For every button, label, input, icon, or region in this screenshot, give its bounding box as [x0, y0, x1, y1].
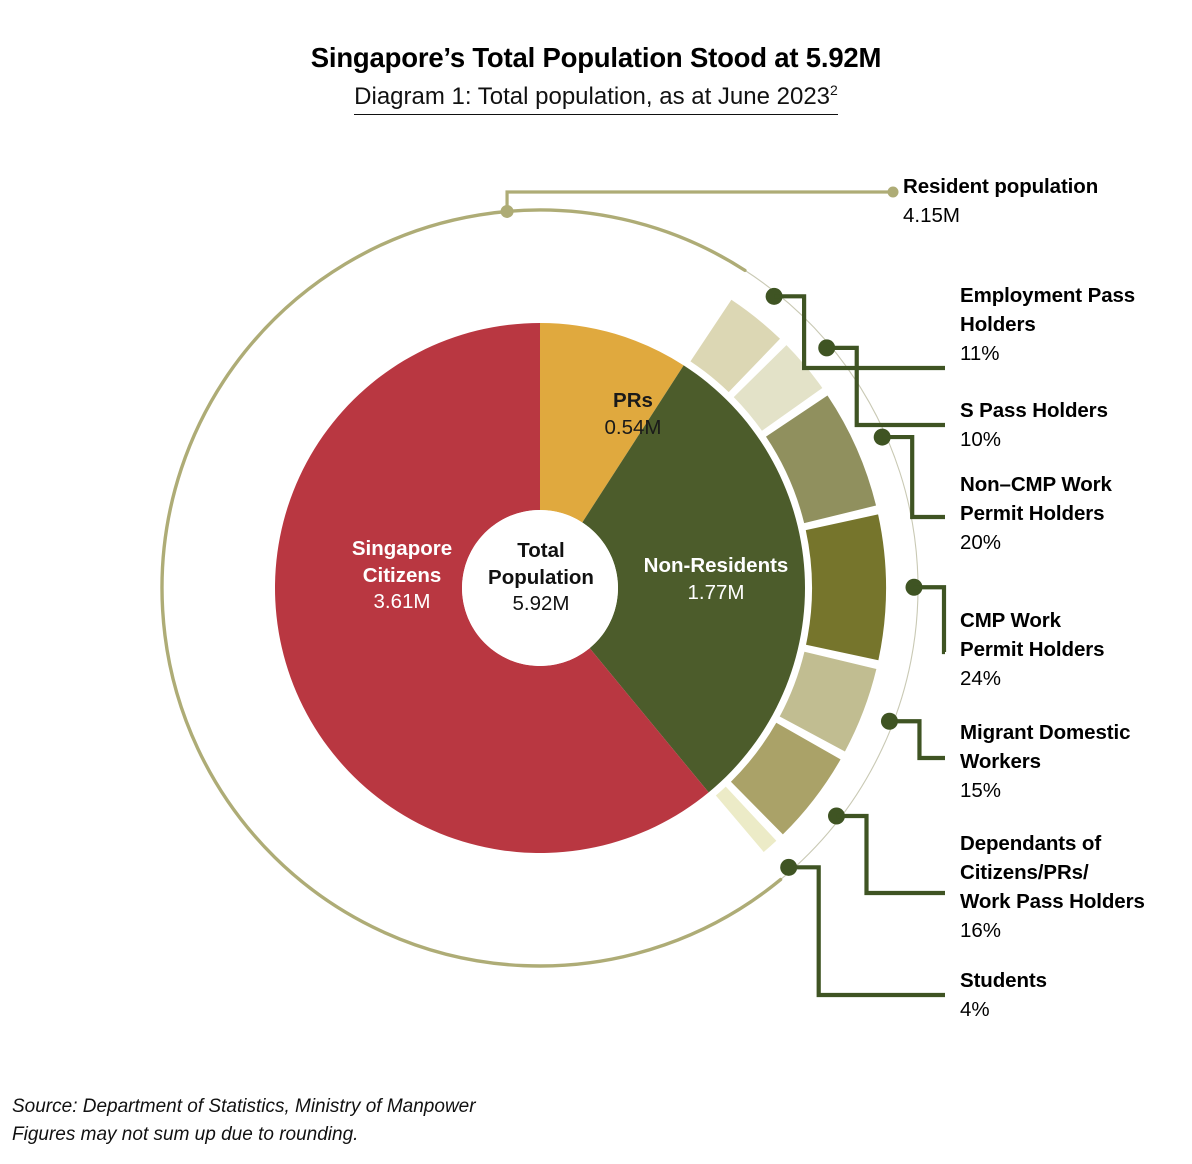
callout-noncmp-value: 20%: [960, 528, 1192, 557]
callout-migrant-domestic-workers: Migrant Domestic Workers 15%: [960, 718, 1192, 805]
callout-mdw-line1: Migrant Domestic: [960, 718, 1192, 747]
callout-dep-line1: Dependants of: [960, 829, 1192, 858]
callout-mdw-line2: Workers: [960, 747, 1192, 776]
callout-noncmp-line1: Non–CMP Work: [960, 470, 1192, 499]
callout-students: Students 4%: [960, 966, 1192, 1024]
resident-population-leader: [507, 192, 893, 211]
callout-dep-value: 16%: [960, 916, 1192, 945]
leader-s-pass-line: [827, 348, 945, 425]
callout-employment-pass-holders: Employment Pass Holders 11%: [960, 281, 1192, 368]
callout-resident-population: Resident population 4.15M: [903, 172, 1192, 230]
leader-migrant-domestic-workers-line: [889, 721, 945, 758]
outer-slice-cmp-work-permit-holders: [806, 514, 886, 660]
slice-value-nonres: 1.77M: [616, 580, 816, 607]
slice-label-prs: PRs 0.54M: [553, 388, 713, 441]
source-line-2: Figures may not sum up due to rounding.: [12, 1121, 912, 1149]
callout-cmp-line1: CMP Work: [960, 606, 1192, 635]
callout-cmp-line2: Permit Holders: [960, 635, 1192, 664]
source-note: Source: Department of Statistics, Minist…: [12, 1093, 912, 1149]
leader-dependants-line: [836, 816, 945, 893]
source-line-1: Source: Department of Statistics, Minist…: [12, 1093, 912, 1121]
callout-dependants: Dependants of Citizens/PRs/ Work Pass Ho…: [960, 829, 1192, 945]
leader-cmp-line: [914, 587, 945, 652]
slice-label-singapore-citizens: Singapore Citizens 3.61M: [302, 536, 502, 616]
callout-spass-line1: S Pass Holders: [960, 396, 1192, 425]
callout-resident-name: Resident population: [903, 172, 1192, 201]
leader-employment-pass-line: [774, 296, 945, 368]
callout-students-value: 4%: [960, 995, 1192, 1024]
resident-population-end-dot: [888, 187, 899, 198]
callout-ep-line2: Holders: [960, 310, 1192, 339]
callout-noncmp-line2: Permit Holders: [960, 499, 1192, 528]
callout-resident-value: 4.15M: [903, 201, 1192, 230]
callout-cmp-value: 24%: [960, 664, 1192, 693]
slice-label-citizens-line2: Citizens: [302, 563, 502, 590]
slice-label-nonres-name: Non-Residents: [616, 553, 816, 580]
callout-ep-line1: Employment Pass: [960, 281, 1192, 310]
callout-spass-value: 10%: [960, 425, 1192, 454]
callout-students-line1: Students: [960, 966, 1192, 995]
callout-s-pass-holders: S Pass Holders 10%: [960, 396, 1192, 454]
slice-label-prs-name: PRs: [553, 388, 713, 415]
callout-mdw-value: 15%: [960, 776, 1192, 805]
slice-label-non-residents: Non-Residents 1.77M: [616, 553, 816, 606]
slice-value-prs: 0.54M: [553, 415, 713, 442]
callout-non-cmp-work-permit-holders: Non–CMP Work Permit Holders 20%: [960, 470, 1192, 557]
slice-label-citizens-line1: Singapore: [302, 536, 502, 563]
slice-value-citizens: 3.61M: [302, 589, 502, 616]
callout-ep-value: 11%: [960, 339, 1192, 368]
callout-dep-line2: Citizens/PRs/: [960, 858, 1192, 887]
callout-cmp-work-permit-holders: CMP Work Permit Holders 24%: [960, 606, 1192, 693]
callout-dep-line3: Work Pass Holders: [960, 887, 1192, 916]
